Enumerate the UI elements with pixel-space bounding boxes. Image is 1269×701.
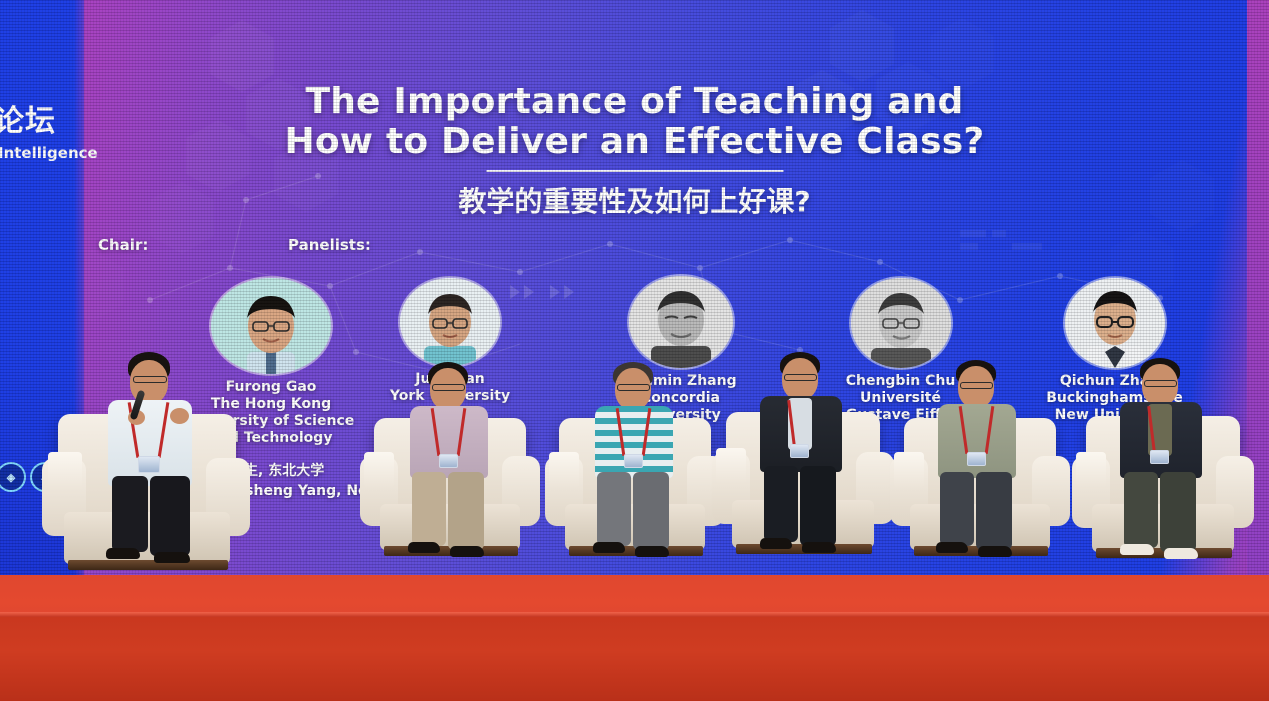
person-2-glasses	[617, 384, 650, 391]
chair-headshot	[211, 278, 331, 374]
person-panelist-1	[402, 362, 506, 568]
person-0-hand-right	[170, 408, 189, 424]
person-3-shoe-right	[802, 542, 836, 553]
person-0-badge	[138, 456, 160, 473]
seat-chair-speaker	[40, 400, 250, 590]
session-title-en: The Importance of Teaching and How to De…	[0, 82, 1269, 162]
armchair-towel-3	[716, 448, 746, 484]
stage-floor-front	[0, 617, 1269, 701]
person-2-leg-left	[597, 472, 631, 546]
person-1-leg-right	[448, 472, 484, 550]
title-divider	[486, 170, 783, 172]
person-4-shoe-left	[936, 542, 968, 553]
person-0-leg-right	[150, 476, 190, 556]
person-1-leg-left	[412, 472, 446, 546]
person-4-badge	[967, 452, 986, 466]
seat-panelist-3	[712, 402, 892, 578]
person-2-leg-right	[633, 472, 669, 550]
person-4-shoe-right	[978, 546, 1012, 557]
person-1-shoe-left	[408, 542, 440, 553]
person-3-glasses	[784, 374, 817, 381]
seat-panelist-4	[890, 408, 1070, 578]
person-panelist-4	[930, 360, 1034, 568]
panelist-3-headshot	[851, 278, 951, 368]
chair-face-graphic	[211, 278, 331, 374]
person-4-leg-right	[976, 472, 1012, 550]
panelist-1-face-graphic	[400, 278, 500, 366]
person-0-leg-left	[112, 476, 148, 552]
panelists-role-label: Panelists:	[288, 236, 371, 254]
person-1-glasses	[432, 384, 465, 391]
person-3-shoe-left	[760, 538, 792, 549]
person-3-leg-left	[764, 466, 798, 542]
person-panelist-2	[587, 362, 691, 568]
armchair-towel-4	[894, 452, 924, 488]
panelist-2-headshot	[629, 276, 733, 368]
seat-panelist-2	[545, 408, 725, 578]
person-2-shoe-left	[593, 542, 625, 553]
panelist-4-headshot	[1065, 278, 1165, 368]
person-5-leg-left	[1124, 472, 1158, 548]
person-5-shoe-right	[1164, 548, 1198, 559]
panel-photo: 论坛 Intelligence ◈ A C The Importance of …	[0, 0, 1269, 701]
person-4-leg-left	[940, 472, 974, 546]
person-1-badge	[439, 454, 458, 468]
armchair-towel-2	[549, 452, 579, 488]
person-2-badge	[624, 454, 643, 468]
armchair-towel-1	[364, 452, 394, 488]
person-0-glasses	[133, 376, 167, 383]
seat-panelist-1	[360, 408, 540, 578]
person-4-shirt	[938, 404, 1016, 478]
person-0-shoe-left	[106, 548, 140, 559]
panelist-3-face-graphic	[851, 278, 951, 368]
person-5-badge	[1150, 450, 1169, 464]
panelist-1-headshot	[400, 278, 500, 366]
person-5-leg-right	[1160, 472, 1196, 552]
person-5-glasses	[1144, 380, 1177, 387]
person-panelist-5	[1114, 358, 1218, 568]
sponsor-badge-icon-1: ◈	[0, 462, 26, 492]
person-2-shoe-right	[635, 546, 669, 557]
person-4-glasses	[960, 382, 993, 389]
person-0-shoe-right	[154, 552, 190, 563]
panelist-4-face-graphic	[1065, 278, 1165, 368]
panelist-2-face-graphic	[629, 276, 733, 368]
person-chair-speaker	[92, 352, 212, 582]
seat-panelist-5	[1072, 406, 1252, 578]
person-1-shoe-right	[450, 546, 484, 557]
person-3-leg-right	[800, 466, 836, 546]
person-3-badge	[790, 444, 809, 458]
person-5-shoe-left	[1120, 544, 1154, 555]
chair-role-label: Chair:	[98, 236, 148, 254]
session-title-zh: 教学的重要性及如何上好课?	[0, 185, 1269, 219]
armchair-towel-5	[1076, 452, 1106, 488]
armchair-towel-0	[48, 452, 82, 492]
person-panelist-3	[754, 352, 858, 564]
